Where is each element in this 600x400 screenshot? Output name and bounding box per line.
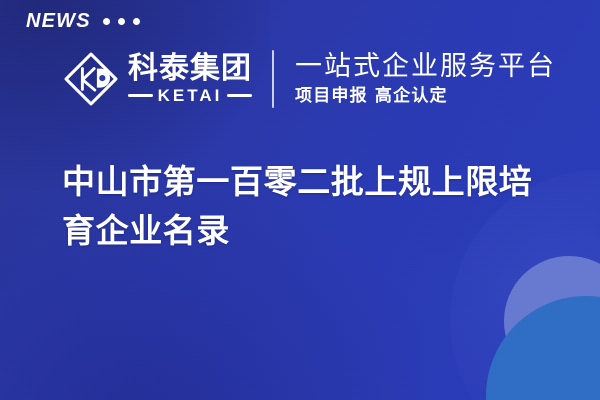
ketai-diamond-logo-icon <box>62 50 120 108</box>
tagline-main: 一站式企业服务平台 <box>295 52 556 82</box>
tagline-sub: 项目申报 高企认定 <box>295 86 556 106</box>
news-kicker: NEWS <box>26 11 140 31</box>
news-banner: NEWS 科泰集团 KETAI <box>0 0 600 400</box>
kicker-dots-icon <box>103 18 140 25</box>
brand-name-en: KETAI <box>158 87 223 104</box>
wordmark-rule-left <box>128 94 153 97</box>
brand-name-en-row: KETAI <box>128 87 252 104</box>
kicker-dot-icon <box>118 18 125 25</box>
brand-row: 科泰集团 KETAI 一站式企业服务平台 项目申报 高企认定 <box>62 48 556 110</box>
wordmark-rule-right <box>227 94 252 97</box>
tagline-block: 一站式企业服务平台 项目申报 高企认定 <box>295 52 556 107</box>
logo-dot-cutout <box>99 75 105 81</box>
headline-title: 中山市第一百零二批上规上限培育企业名录 <box>62 158 562 256</box>
brand-wordmark: 科泰集团 KETAI <box>128 54 252 104</box>
brand-divider <box>272 50 274 108</box>
brand-name-cn: 科泰集团 <box>128 54 252 85</box>
kicker-dot-icon <box>133 18 140 25</box>
kicker-dot-icon <box>103 18 110 25</box>
news-kicker-label: NEWS <box>26 11 91 31</box>
